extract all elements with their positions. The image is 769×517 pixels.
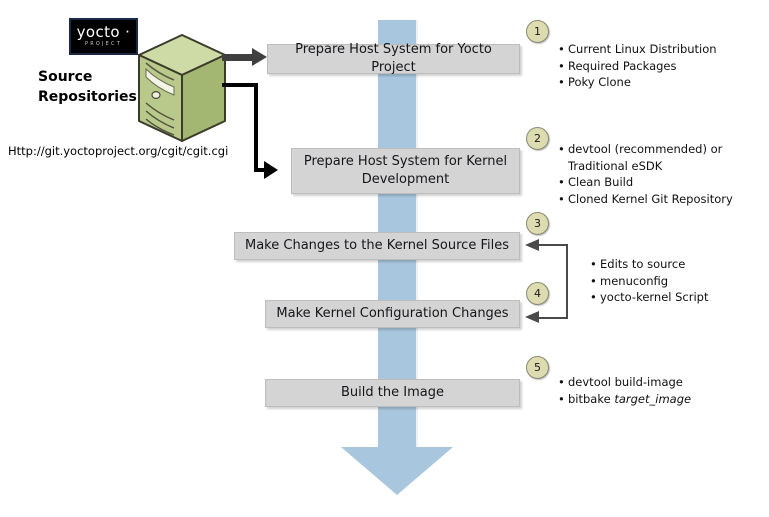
process-box-step2-label-line2: Development — [356, 171, 456, 189]
source-repository-url: Http://git.yoctoproject.org/cgit/cgit.cg… — [8, 144, 228, 158]
connector-server-to-step2-vertical — [254, 83, 258, 172]
process-box-step5-label: Build the Image — [335, 384, 450, 402]
connector-server-to-step2-arrowhead — [264, 161, 278, 179]
source-repositories-label: Source Repositories — [38, 67, 133, 107]
logo-wordmark: yocto · — [77, 25, 131, 40]
step-number-3-label: 3 — [534, 217, 541, 230]
list-item: devtool (recommended) or Traditional eSD… — [558, 141, 764, 174]
server-icon-svg — [134, 33, 230, 145]
yocto-project-logo: yocto · PROJECT — [69, 18, 138, 55]
process-box-step3[interactable]: Make Changes to the Kernel Source Files — [234, 232, 520, 260]
bracket-step34-top-arrowhead — [525, 239, 539, 251]
list-item: Cloned Kernel Git Repository — [558, 191, 764, 208]
bracket-step34-bottom-horizontal — [538, 317, 568, 319]
list-item: Edits to source — [590, 256, 758, 273]
step-number-2-label: 2 — [534, 132, 541, 145]
diagram-canvas: yocto · PROJECT Source Repositories Http… — [0, 0, 769, 517]
connector-server-to-step2-horizontal-top — [222, 83, 258, 87]
process-box-step3-label: Make Changes to the Kernel Source Files — [239, 237, 515, 255]
step-number-1: 1 — [526, 20, 549, 43]
list-item: bitbake target_image — [558, 391, 746, 408]
step2-bullet-list: devtool (recommended) or Traditional eSD… — [546, 141, 764, 207]
process-box-step1[interactable]: Prepare Host System for Yocto Project — [267, 44, 520, 74]
bracket-step34-bottom-arrowhead — [525, 311, 539, 323]
list-item: Required Packages — [558, 58, 761, 75]
connector-server-to-step1-arrowhead — [252, 48, 267, 66]
bitbake-target-italic: target_image — [614, 392, 691, 406]
list-item: menuconfig — [590, 273, 758, 290]
step-number-5-label: 5 — [534, 361, 541, 374]
server-icon — [134, 33, 230, 145]
process-box-step2[interactable]: Prepare Host System for Kernel Developme… — [291, 148, 520, 194]
process-box-step5[interactable]: Build the Image — [265, 379, 520, 407]
list-item: Clean Build — [558, 174, 764, 191]
logo-subtext: PROJECT — [85, 41, 122, 48]
step-number-3: 3 — [526, 212, 549, 235]
step-number-4: 4 — [526, 282, 549, 305]
source-label-line1: Source — [38, 67, 133, 87]
bitbake-command-text: bitbake — [568, 392, 614, 406]
bracket-step34-top-horizontal — [538, 244, 568, 246]
step34-bullet-list: Edits to source menuconfig yocto-kernel … — [578, 256, 758, 306]
step5-bullet-list: devtool build-image bitbake target_image — [546, 374, 746, 407]
list-item: Poky Clone — [558, 74, 761, 91]
process-box-step2-label-line1: Prepare Host System for Kernel — [298, 153, 513, 171]
list-item: yocto-kernel Script — [590, 289, 758, 306]
process-box-step1-label: Prepare Host System for Yocto Project — [268, 41, 519, 77]
list-item: devtool build-image — [558, 374, 746, 391]
bracket-step34-vertical — [566, 244, 568, 318]
process-box-step4-label: Make Kernel Configuration Changes — [270, 305, 514, 323]
process-box-step4[interactable]: Make Kernel Configuration Changes — [265, 300, 520, 328]
step-number-4-label: 4 — [534, 287, 541, 300]
step-number-1-label: 1 — [534, 25, 541, 38]
list-item: Current Linux Distribution — [558, 41, 761, 58]
step1-bullet-list: Current Linux Distribution Required Pack… — [546, 41, 761, 91]
flow-arrow-head — [341, 447, 453, 495]
source-label-line2: Repositories — [38, 87, 133, 107]
